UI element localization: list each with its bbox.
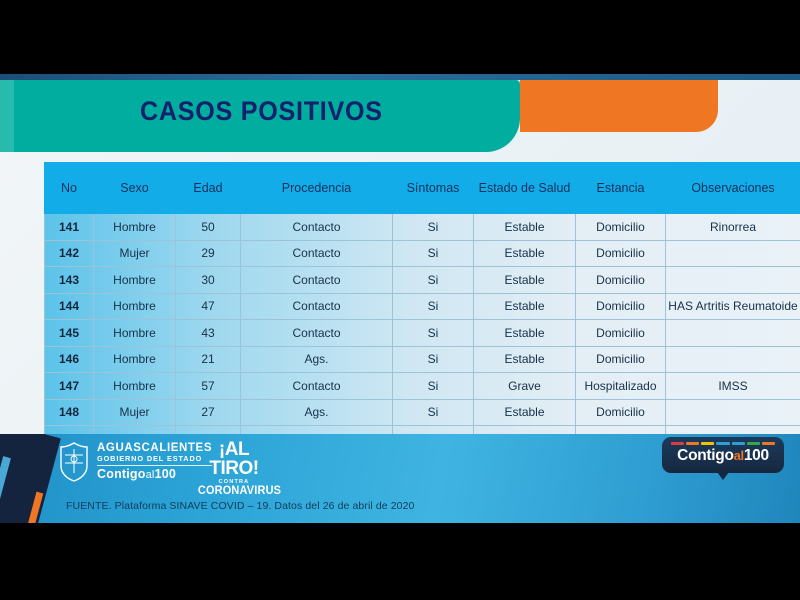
coat-of-arms-icon	[58, 442, 90, 482]
cell-estado: Estable	[474, 267, 576, 294]
cell-estancia: Domicilio	[576, 267, 666, 294]
cell-sexo: Hombre	[94, 320, 176, 347]
cell-observaciones	[666, 346, 800, 373]
cell-sexo: Hombre	[94, 373, 176, 400]
altiro-bottom-text: CORONAVIRUS	[198, 485, 270, 498]
government-logo-text: AGUASCALIENTES GOBIERNO DEL ESTADO Conti…	[97, 443, 212, 482]
cell-edad: 47	[176, 293, 241, 320]
cell-sexo: Hombre	[94, 346, 176, 373]
cell-procedencia: Ags.	[241, 346, 393, 373]
gov-al-word: al	[146, 469, 155, 481]
cell-edad: 30	[176, 267, 241, 294]
table-row[interactable]: 145Hombre43ContactoSiEstableDomicilio	[45, 320, 800, 347]
column-header-observaciones[interactable]: Observaciones	[666, 163, 800, 214]
orange-accent-banner	[520, 80, 718, 132]
altiro-top-text: ¡AL TIRO!	[196, 440, 272, 478]
cell-procedencia: Ags.	[241, 399, 393, 426]
header-row: No Sexo Edad Procedencia Síntomas Estado…	[45, 163, 800, 214]
badge-bar-0	[671, 442, 684, 445]
contigo-al-100-badge: Contigoal100	[662, 437, 784, 473]
cell-estancia: Domicilio	[576, 346, 666, 373]
screenshot-stage: CASOS POSITIVOS No Sexo Edad Procedencia…	[0, 0, 800, 600]
cell-no: 148	[45, 399, 94, 426]
gov-divider	[97, 465, 212, 466]
altiro-logo: ¡AL TIRO! CONTRA CORONAVIRUS	[196, 440, 272, 498]
column-header-edad[interactable]: Edad	[176, 163, 241, 214]
cell-observaciones	[666, 320, 800, 347]
cell-observaciones	[666, 267, 800, 294]
cell-estancia: Domicilio	[576, 214, 666, 241]
column-header-no[interactable]: No	[45, 163, 94, 214]
cell-estado: Grave	[474, 373, 576, 400]
cell-observaciones: Rinorrea	[666, 214, 800, 241]
source-note: FUENTE. Plataforma SINAVE COVID – 19. Da…	[66, 500, 415, 512]
cell-sexo: Hombre	[94, 293, 176, 320]
cell-sexo: Mujer	[94, 399, 176, 426]
cell-edad: 21	[176, 346, 241, 373]
badge-bar-2	[701, 442, 714, 445]
table-row[interactable]: 144Hombre47ContactoSiEstableDomicilioHAS…	[45, 293, 800, 320]
cell-sintomas: Si	[393, 373, 474, 400]
cell-observaciones: HAS Artritis Reumatoide	[666, 293, 800, 320]
cell-estado: Estable	[474, 293, 576, 320]
cell-procedencia: Contacto	[241, 214, 393, 241]
cell-sintomas: Si	[393, 267, 474, 294]
table-row[interactable]: 146Hombre21Ags.SiEstableDomicilio	[45, 346, 800, 373]
cell-observaciones	[666, 399, 800, 426]
cell-sintomas: Si	[393, 293, 474, 320]
page-title: CASOS POSITIVOS	[140, 96, 383, 127]
table-row[interactable]: 143Hombre30ContactoSiEstableDomicilio	[45, 267, 800, 294]
cell-estancia: Domicilio	[576, 320, 666, 347]
column-header-procedencia[interactable]: Procedencia	[241, 163, 393, 214]
slide-canvas: CASOS POSITIVOS No Sexo Edad Procedencia…	[0, 74, 800, 523]
badge-color-bars	[671, 442, 775, 445]
cell-edad: 57	[176, 373, 241, 400]
column-header-sexo[interactable]: Sexo	[94, 163, 176, 214]
badge-bar-6	[762, 442, 775, 445]
badge-100: 100	[744, 447, 769, 464]
cell-edad: 29	[176, 240, 241, 267]
cell-estado: Estable	[474, 399, 576, 426]
cell-sexo: Mujer	[94, 240, 176, 267]
cell-estado: Estable	[474, 320, 576, 347]
positive-cases-table: No Sexo Edad Procedencia Síntomas Estado…	[44, 162, 800, 479]
cell-estado: Estable	[474, 346, 576, 373]
gov-line-gobierno: GOBIERNO DEL ESTADO	[97, 455, 212, 462]
cell-procedencia: Contacto	[241, 240, 393, 267]
badge-bar-5	[747, 442, 760, 445]
table-header: No Sexo Edad Procedencia Síntomas Estado…	[45, 163, 800, 214]
gov-contigo-word: Contigo	[97, 467, 146, 481]
badge-contigo: Contigo	[677, 447, 733, 464]
cell-no: 142	[45, 240, 94, 267]
gov-100-word: 100	[155, 467, 176, 481]
badge-al: al	[734, 448, 744, 463]
cell-procedencia: Contacto	[241, 320, 393, 347]
badge-bar-4	[732, 442, 745, 445]
badge-text: Contigoal100	[662, 447, 784, 465]
cell-sexo: Hombre	[94, 214, 176, 241]
cell-sintomas: Si	[393, 399, 474, 426]
cell-no: 145	[45, 320, 94, 347]
badge-bar-3	[716, 442, 729, 445]
cell-sintomas: Si	[393, 240, 474, 267]
cell-no: 141	[45, 214, 94, 241]
cell-observaciones: IMSS	[666, 373, 800, 400]
banner-highlight-edge	[0, 80, 14, 152]
table-row[interactable]: 141Hombre50ContactoSiEstableDomicilioRin…	[45, 214, 800, 241]
column-header-estancia[interactable]: Estancia	[576, 163, 666, 214]
cell-procedencia: Contacto	[241, 267, 393, 294]
cell-procedencia: Contacto	[241, 293, 393, 320]
cell-edad: 50	[176, 214, 241, 241]
gov-line-aguascalientes: AGUASCALIENTES	[97, 443, 212, 455]
badge-bar-1	[686, 442, 699, 445]
cell-estancia: Domicilio	[576, 293, 666, 320]
cell-no: 144	[45, 293, 94, 320]
cell-edad: 43	[176, 320, 241, 347]
cell-no: 146	[45, 346, 94, 373]
cell-sintomas: Si	[393, 346, 474, 373]
government-logo: AGUASCALIENTES GOBIERNO DEL ESTADO Conti…	[58, 442, 212, 482]
cell-observaciones	[666, 240, 800, 267]
cell-sintomas: Si	[393, 320, 474, 347]
table-row[interactable]: 142Mujer29ContactoSiEstableDomicilio	[45, 240, 800, 267]
cell-estado: Estable	[474, 240, 576, 267]
cell-no: 143	[45, 267, 94, 294]
gov-line-contigo: Contigoal100	[97, 468, 212, 481]
cell-sintomas: Si	[393, 214, 474, 241]
corner-dark-shape	[0, 434, 61, 523]
column-header-estado-salud[interactable]: Estado de Salud	[474, 163, 576, 214]
cell-procedencia: Contacto	[241, 373, 393, 400]
cell-no: 147	[45, 373, 94, 400]
cell-estado: Estable	[474, 214, 576, 241]
table-row[interactable]: 147Hombre57ContactoSiGraveHospitalizadoI…	[45, 373, 800, 400]
cell-edad: 27	[176, 399, 241, 426]
cell-estancia: Domicilio	[576, 240, 666, 267]
cell-estancia: Domicilio	[576, 399, 666, 426]
cell-estancia: Hospitalizado	[576, 373, 666, 400]
table-row[interactable]: 148Mujer27Ags.SiEstableDomicilio	[45, 399, 800, 426]
cell-sexo: Hombre	[94, 267, 176, 294]
column-header-sintomas[interactable]: Síntomas	[393, 163, 474, 214]
